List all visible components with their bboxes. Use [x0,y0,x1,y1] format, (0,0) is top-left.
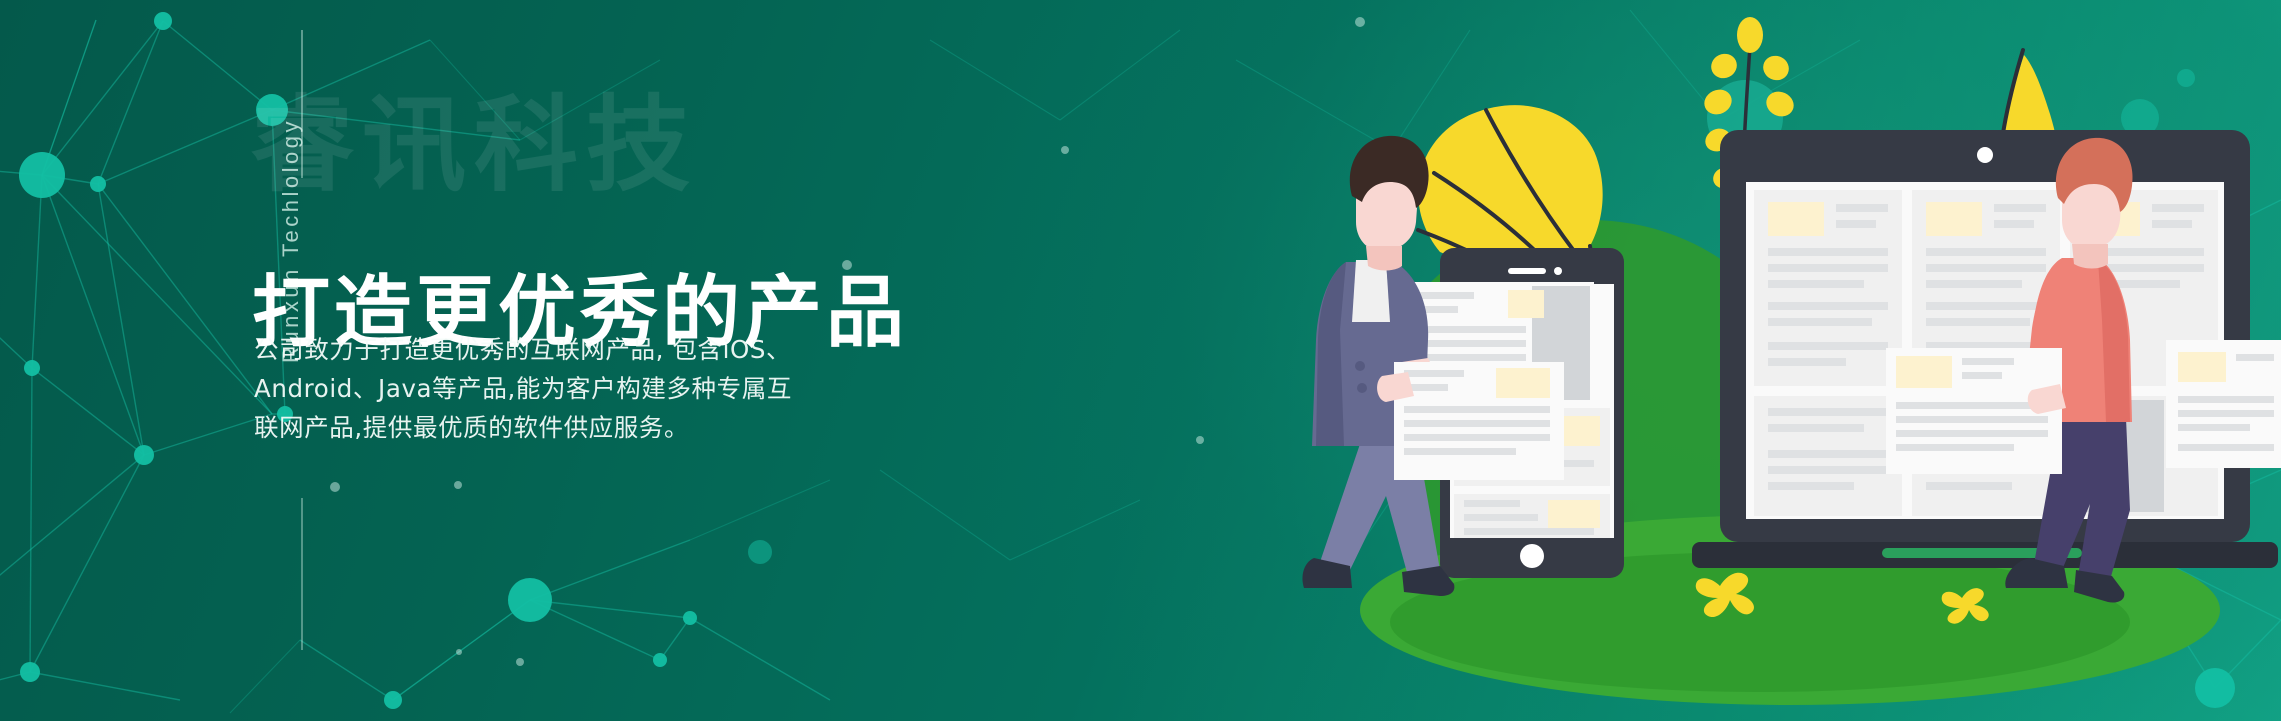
description-line: Android、Java等产品,能为客户构建多种专属互 [254,369,810,408]
description-line: 公司致力于打造更优秀的互联网产品, 包含iOS、 [254,330,810,369]
watermark-title: 睿讯科技 [250,93,698,197]
description-line: 联网产品,提供最优质的软件供应服务。 [254,408,810,447]
hero-banner: .ln{stroke:#16c2a6;stroke-width:1.4;fill… [0,0,2281,721]
description-paragraph: 公司致力于打造更优秀的互联网产品, 包含iOS、 Android、Java等产品… [254,330,810,447]
hero-illustration: .grass{fill:#3aa935;} .grassd{fill:#2f9a… [1290,10,2281,721]
brand-rule-bottom [301,498,303,650]
